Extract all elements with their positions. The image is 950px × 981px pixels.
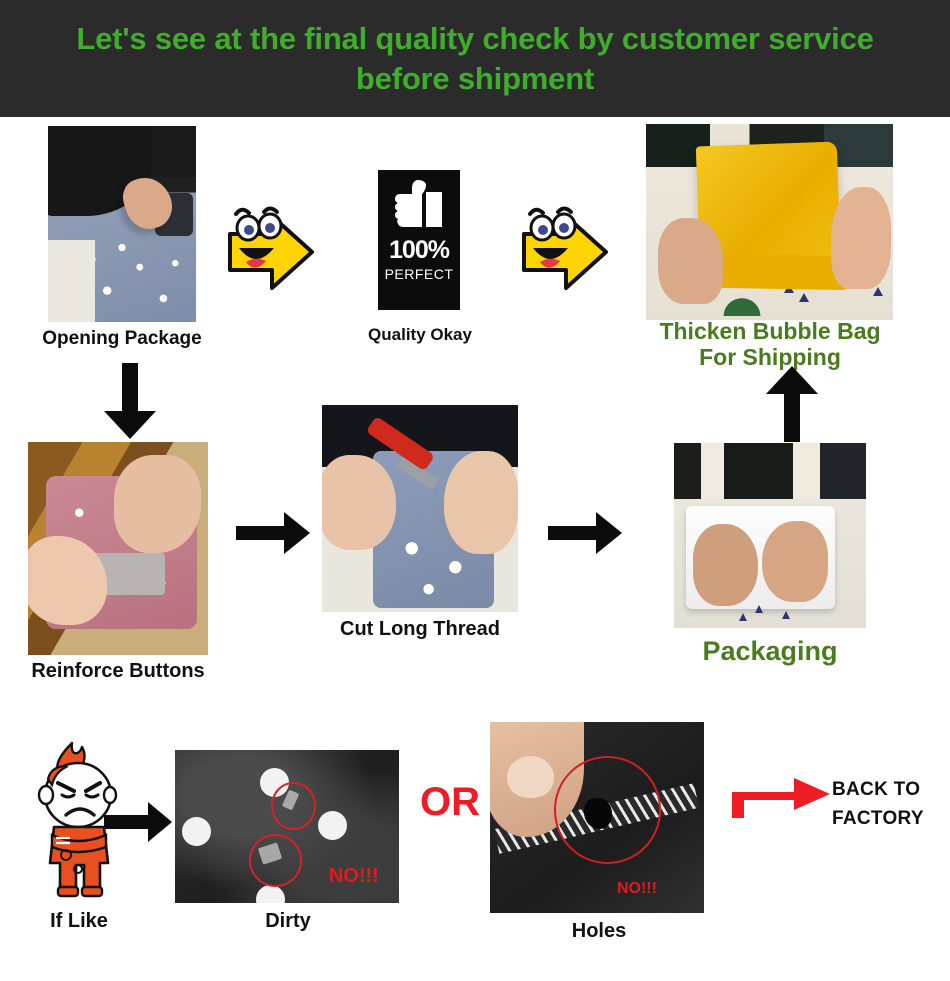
- photo-detail-hand-left: [693, 524, 758, 605]
- photo-detail-defect-circle: [554, 756, 661, 863]
- photo-holes-fabric: NO!!!: [490, 722, 704, 913]
- photo-thicken-bubble-bag: [646, 124, 893, 320]
- photo-packaging: [674, 443, 866, 628]
- photo-detail-triangle: [739, 613, 747, 621]
- photo-detail-hand-right: [444, 451, 518, 555]
- caption-cut-long-thread: Cut Long Thread: [300, 618, 540, 641]
- caption-dirty: Dirty: [168, 910, 408, 933]
- photo-detail-dot: [182, 817, 211, 846]
- page-title: Let's see at the final quality check by …: [35, 19, 915, 98]
- infographic-page: Let's see at the final quality check by …: [0, 0, 950, 981]
- photo-reinforce-buttons: [28, 442, 208, 655]
- caption-packaging: Packaging: [650, 636, 890, 667]
- or-separator: OR: [415, 780, 485, 825]
- arrow-down-icon: [100, 363, 160, 446]
- smiley-arrow-icon-2: [516, 206, 612, 303]
- arrow-up-icon: [762, 364, 822, 447]
- caption-if-like: If Like: [18, 910, 140, 933]
- badge-perfect-label: PERFECT: [378, 266, 460, 282]
- photo-detail-triangle: [782, 611, 790, 619]
- caption-quality-okay: Quality Okay: [300, 325, 540, 345]
- photo-detail-hand-right: [831, 187, 890, 289]
- photo-opening-package: [48, 126, 196, 322]
- smiley-arrow-icon: [222, 206, 318, 303]
- photo-detail-hand-right: [762, 521, 827, 602]
- photo-detail-triangle: [755, 605, 763, 613]
- arrow-right-icon-2: [548, 510, 624, 561]
- photo-detail-defect-circle: [271, 782, 315, 830]
- caption-opening-package: Opening Package: [0, 328, 244, 350]
- back-to-factory-label: BACK TO FACTORY: [832, 775, 950, 834]
- photo-detail-fingernail: [507, 756, 554, 798]
- arrow-right-icon-3: [104, 800, 174, 849]
- no-tag-dirty: NO!!!: [329, 865, 379, 888]
- photo-detail-dot: [256, 885, 285, 903]
- photo-dirty-fabric: NO!!!: [175, 750, 399, 903]
- caption-thicken-bubble-bag-line1: Thicken Bubble Bag: [640, 318, 900, 345]
- photo-detail-hand-upper: [114, 455, 200, 553]
- photo-detail-table: [48, 240, 95, 322]
- badge-100-percent-perfect: 100% PERFECT: [378, 170, 460, 310]
- caption-holes: Holes: [488, 920, 710, 943]
- photo-detail-hand-left: [658, 218, 722, 304]
- photo-detail-background: [674, 443, 866, 499]
- photo-detail-hand-left: [322, 455, 396, 550]
- badge-percent-value: 100%: [378, 236, 460, 265]
- arrow-right-icon: [236, 510, 312, 561]
- back-to-factory-line1: BACK TO: [832, 775, 950, 804]
- photo-cut-long-thread: [322, 405, 518, 612]
- photo-detail-dot: [318, 811, 347, 840]
- back-to-factory-line2: FACTORY: [832, 804, 950, 833]
- no-tag-holes: NO!!!: [617, 880, 657, 898]
- red-bent-arrow-icon: [730, 770, 836, 825]
- photo-detail-triangle: [873, 287, 883, 296]
- thumbs-up-icon: [388, 174, 450, 241]
- photo-detail-defect-circle: [249, 834, 302, 887]
- header-banner: Let's see at the final quality check by …: [0, 0, 950, 117]
- caption-reinforce-buttons: Reinforce Buttons: [0, 660, 236, 683]
- photo-detail-triangle: [799, 293, 809, 302]
